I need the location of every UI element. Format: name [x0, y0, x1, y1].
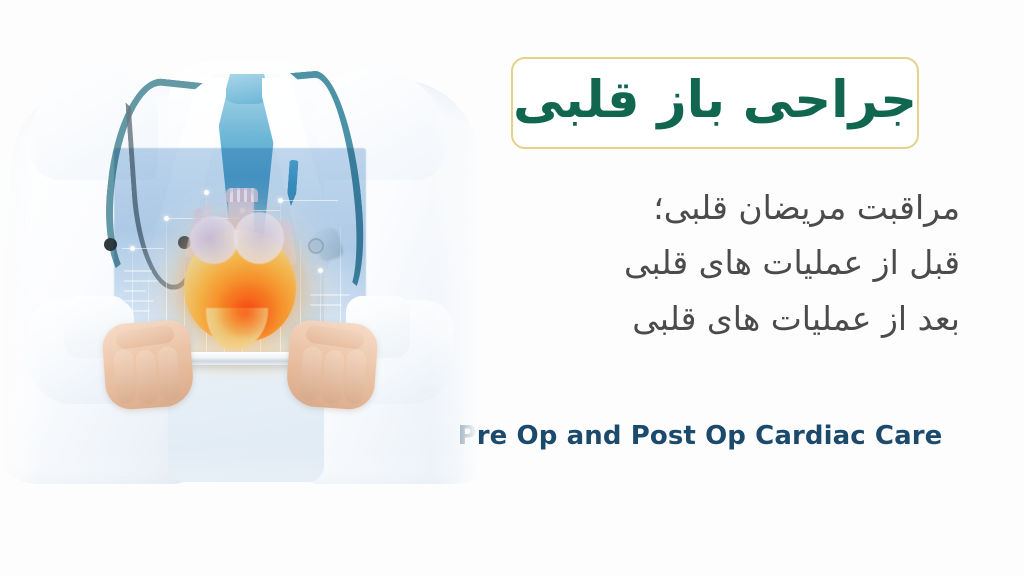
subtitle-block: مراقبت مریضان قلبی؛ قبل از عملیات های قل… [480, 180, 960, 346]
heart-atrium-left [190, 216, 238, 264]
heart-atrium-right [234, 212, 284, 264]
hand-right [285, 319, 379, 411]
finger-right-1 [343, 349, 367, 404]
english-caption: Pre Op and Post Op Cardiac Care [440, 421, 960, 451]
hand-left [101, 319, 195, 411]
title-box: جراحی باز قلبی [511, 57, 919, 149]
page-title: جراحی باز قلبی [513, 75, 917, 131]
finger-left-2 [135, 349, 159, 404]
finger-right-2 [321, 349, 345, 404]
heart-aorta-crown [226, 188, 258, 202]
finger-left-1 [113, 349, 137, 404]
holographic-heart-icon [178, 190, 306, 350]
text-content-area: جراحی باز قلبی مراقبت مریضان قلبی؛ قبل ا… [440, 0, 1024, 576]
subtitle-line-2: قبل از عملیات های قلبی [480, 235, 960, 290]
finger-right-3 [299, 346, 323, 401]
subtitle-line-3: بعد از عملیات های قلبی [480, 291, 960, 346]
finger-left-3 [157, 346, 181, 401]
cardiac-care-banner: جراحی باز قلبی مراقبت مریضان قلبی؛ قبل ا… [0, 0, 1024, 576]
doctor-hologram-image [0, 0, 478, 576]
subtitle-line-1: مراقبت مریضان قلبی؛ [480, 180, 960, 235]
heart-glow-hotspot [218, 286, 274, 338]
